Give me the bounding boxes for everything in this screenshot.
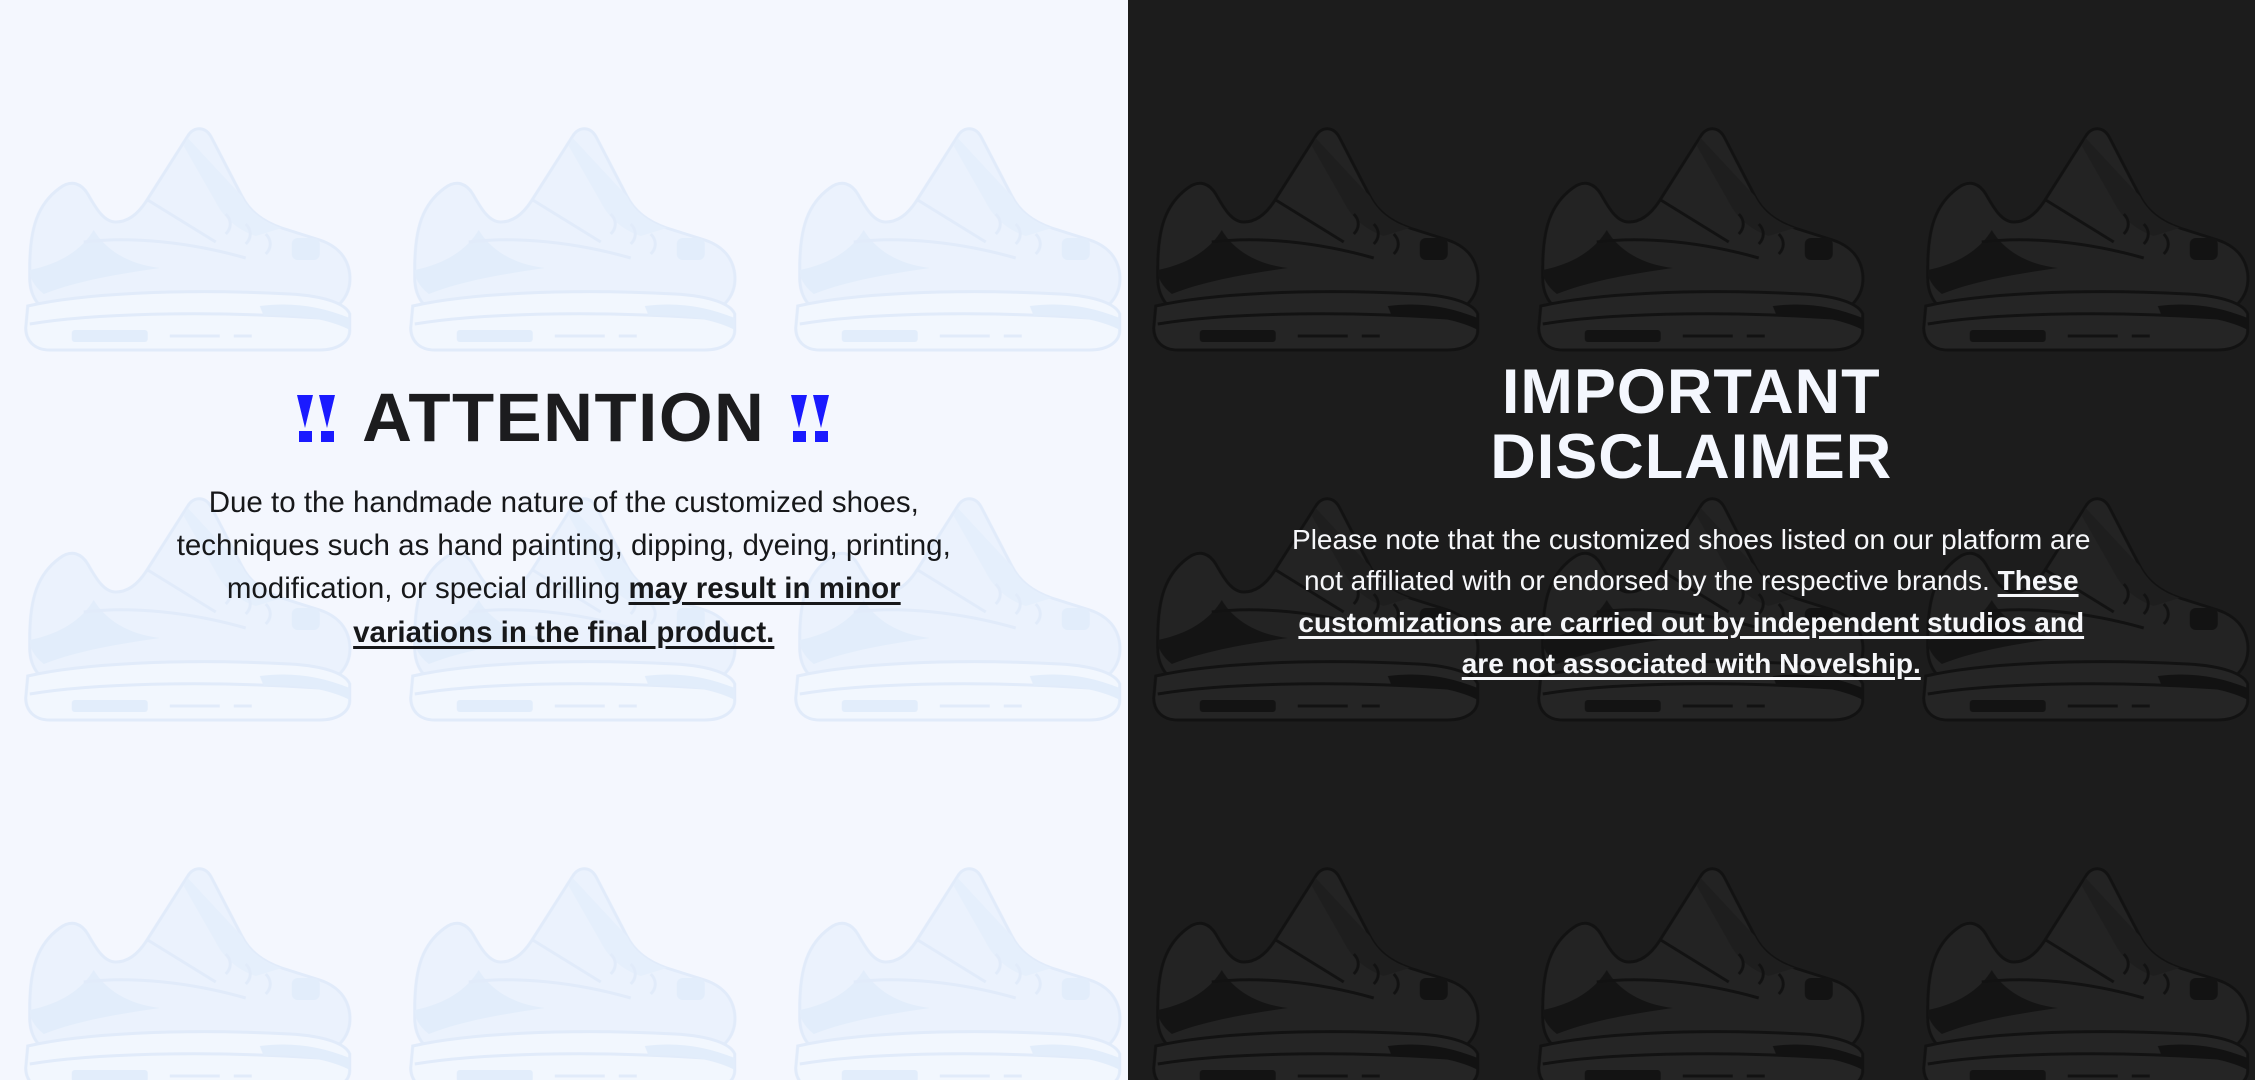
disclaimer-headline-line1: IMPORTANT — [1502, 357, 1881, 427]
disclaimer-headline-line2: DISCLAIMER — [1490, 422, 1892, 492]
disclaimer-headline: IMPORTANT DISCLAIMER — [1490, 360, 1892, 491]
attention-content: ATTENTION Due to the handmade nature of … — [0, 382, 1128, 654]
attention-headline-text: ATTENTION — [362, 382, 765, 454]
attention-headline: ATTENTION — [297, 382, 830, 454]
disclaimer-panel: IMPORTANT DISCLAIMER Please note that th… — [1128, 0, 2255, 1080]
disclaimer-banner: ATTENTION Due to the handmade nature of … — [0, 0, 2255, 1080]
attention-panel: ATTENTION Due to the handmade nature of … — [0, 0, 1128, 1080]
double-exclamation-icon-left — [297, 395, 336, 442]
double-exclamation-icon-right — [791, 395, 830, 442]
disclaimer-body-plain: Please note that the customized shoes li… — [1292, 524, 2090, 596]
disclaimer-body: Please note that the customized shoes li… — [1276, 519, 2106, 685]
disclaimer-content: IMPORTANT DISCLAIMER Please note that th… — [1128, 360, 2255, 685]
attention-body: Due to the handmade nature of the custom… — [164, 481, 964, 654]
